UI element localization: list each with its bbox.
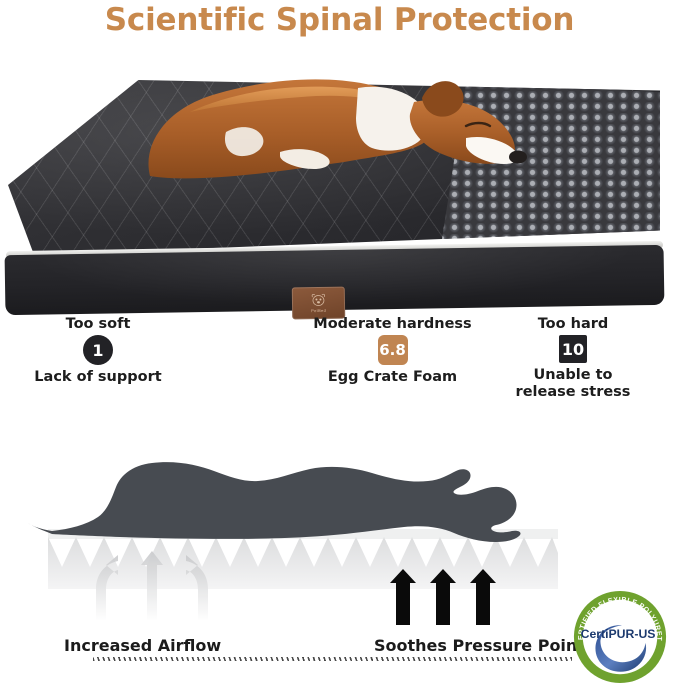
infographic-root: Scientific Spinal Protection PetBed xyxy=(0,0,679,686)
scale-stop-moderate: Moderate hardness 6.8 Egg Crate Foam xyxy=(300,316,485,386)
scale-stop-too-hard: Too hard 10 Unable to release stress xyxy=(508,316,638,400)
hardness-scale: Too soft 1 Lack of support Moderate hard… xyxy=(0,305,679,415)
scale-stop-bottom-line1: Unable to xyxy=(508,367,638,384)
certipur-us-seal-icon: CONTAINS CERTIFIED FLEXIBLE POLYURETHANE… xyxy=(570,588,670,686)
dog-photo-icon xyxy=(130,58,550,208)
certipur-brand-prefix: Certi xyxy=(581,627,609,641)
scale-marker-68: 6.8 xyxy=(378,335,408,365)
scale-stop-top-label: Moderate hardness xyxy=(300,316,485,332)
scale-marker-10: 10 xyxy=(559,335,587,363)
scale-stop-bottom-label: Lack of support xyxy=(19,369,177,386)
pressure-arrows-up-icon xyxy=(390,569,496,625)
scale-marker-1: 1 xyxy=(83,335,113,365)
pressure-caption: Soothes Pressure Points xyxy=(374,636,594,655)
scale-stop-top-label: Too hard xyxy=(508,316,638,332)
scale-stop-bottom-label: Egg Crate Foam xyxy=(300,369,485,386)
airflow-caption: Increased Airflow xyxy=(64,636,221,655)
dog-silhouette-side-view-icon xyxy=(28,462,521,542)
scale-stop-too-soft: Too soft 1 Lack of support xyxy=(19,316,177,386)
certipur-brand-suffix: PUR-US xyxy=(609,627,656,641)
page-title: Scientific Spinal Protection xyxy=(0,2,679,38)
hero-product-image: PetBed xyxy=(0,50,679,290)
scale-stop-top-label: Too soft xyxy=(19,316,177,332)
certipur-brand-text: CertiPUR-US xyxy=(581,627,656,641)
scale-stop-bottom-line2: release stress xyxy=(508,384,638,401)
scale-stop-bottom-label: Unable to release stress xyxy=(508,367,638,400)
